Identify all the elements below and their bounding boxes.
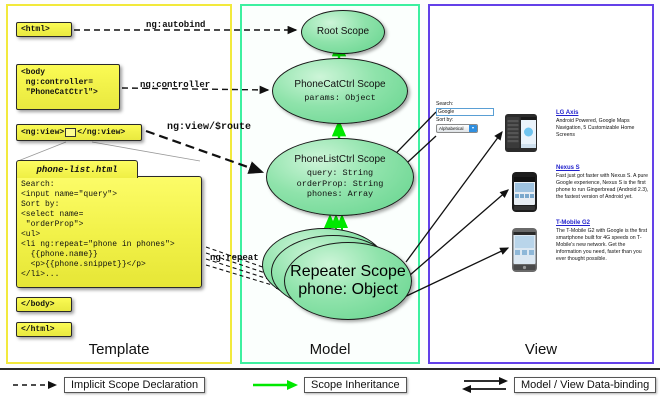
- phone-list-item: Nexus S Fast just got faster with Nexus …: [556, 165, 652, 201]
- code-box-html-open: <html>: [16, 22, 72, 37]
- phone-list-item: T-Mobile G2 The T-Mobile G2 with Google …: [556, 220, 652, 263]
- legend-item-data-binding: Model / View Data-binding: [462, 377, 656, 393]
- scope-phonecatctrl-title: PhoneCatCtrl Scope: [294, 79, 385, 90]
- scope-repeater-title: Repeater Scope: [290, 263, 406, 281]
- ngview-placeholder-slot: [65, 128, 76, 137]
- legend-item-scope-inheritance: Scope Inheritance: [252, 377, 407, 393]
- file-card-title: phone-list.html: [16, 160, 138, 178]
- code-box-body-open: <body ng:controller= "PhoneCatCtrl">: [16, 64, 120, 110]
- double-arrow-icon: [462, 377, 508, 393]
- phone-thumbnail-lg-axis: [505, 112, 537, 154]
- phone-thumbnail-nexus-s: [512, 172, 537, 212]
- connector-label-controller: ng:controller: [140, 80, 210, 90]
- sort-select[interactable]: Alphabetical ▾: [436, 124, 478, 133]
- scope-repeater-front: Repeater Scope phone: Object: [284, 242, 412, 320]
- legend-label: Implicit Scope Declaration: [64, 377, 205, 393]
- panel-model-title: Model: [242, 341, 418, 358]
- legend-label: Scope Inheritance: [304, 377, 407, 393]
- scope-phonecatctrl: PhoneCatCtrl Scope params: Object: [272, 58, 408, 124]
- view-search-form: Search: Google Sort by: Alphabetical ▾: [436, 101, 498, 133]
- file-card-code: Search: <input name="query"> Sort by: <s…: [16, 176, 202, 288]
- ngview-open-tag: <ng:view>: [21, 128, 64, 138]
- phone-snippet: The T-Mobile G2 with Google is the first…: [556, 228, 652, 263]
- search-input[interactable]: Google: [436, 108, 494, 116]
- phone-name-link[interactable]: T-Mobile G2: [556, 220, 652, 226]
- sort-label: Sort by:: [436, 117, 498, 124]
- scope-phonecatctrl-props: params: Object: [304, 93, 375, 104]
- dashed-arrow-icon: [12, 379, 58, 391]
- phone-snippet: Fast just got faster with Nexus S. A pur…: [556, 173, 652, 201]
- search-label: Search:: [436, 101, 498, 108]
- scope-root: Root Scope: [301, 10, 385, 54]
- phone-name-link[interactable]: Nexus S: [556, 165, 652, 171]
- scope-repeater-props: phone: Object: [298, 281, 398, 299]
- scope-root-title: Root Scope: [317, 26, 369, 37]
- diagram-stage: Template Model View: [0, 0, 660, 405]
- connector-label-autobind: ng:autobind: [146, 20, 205, 30]
- chevron-down-icon: ▾: [469, 125, 477, 132]
- scope-phonelistctrl: PhoneListCtrl Scope query: String orderP…: [266, 138, 414, 216]
- green-arrow-icon: [252, 379, 298, 391]
- connector-label-repeat: ng:repeat: [210, 253, 259, 263]
- legend-item-implicit-scope-declaration: Implicit Scope Declaration: [12, 377, 205, 393]
- code-box-html-close: </html>: [16, 322, 72, 337]
- panel-template-title: Template: [8, 341, 230, 358]
- code-box-body-close: </body>: [16, 297, 72, 312]
- phone-list-item: LG Axis Android Powered, Google Maps Nav…: [556, 110, 652, 139]
- phone-name-link[interactable]: LG Axis: [556, 110, 652, 116]
- scope-repeater-stack: Repeater Scope phone: Object: [262, 228, 414, 324]
- file-card-phone-list: phone-list.html Search: <input name="que…: [16, 160, 202, 292]
- phone-snippet: Android Powered, Google Maps Navigation,…: [556, 118, 652, 139]
- legend: Implicit Scope Declaration Scope Inherit…: [0, 368, 660, 407]
- code-box-ngview: <ng:view> </ng:view>: [16, 124, 142, 141]
- panel-view-title: View: [430, 341, 652, 358]
- connector-label-route: ng:view/$route: [167, 122, 251, 133]
- ngview-close-tag: </ng:view>: [77, 128, 125, 138]
- phone-thumbnail-tmobile-g2: [512, 228, 537, 272]
- scope-phonelistctrl-title: PhoneListCtrl Scope: [294, 154, 385, 165]
- scope-phonelistctrl-props: query: String orderProp: String phones: …: [297, 168, 384, 200]
- legend-label: Model / View Data-binding: [514, 377, 656, 393]
- sort-select-value: Alphabetical: [439, 126, 464, 131]
